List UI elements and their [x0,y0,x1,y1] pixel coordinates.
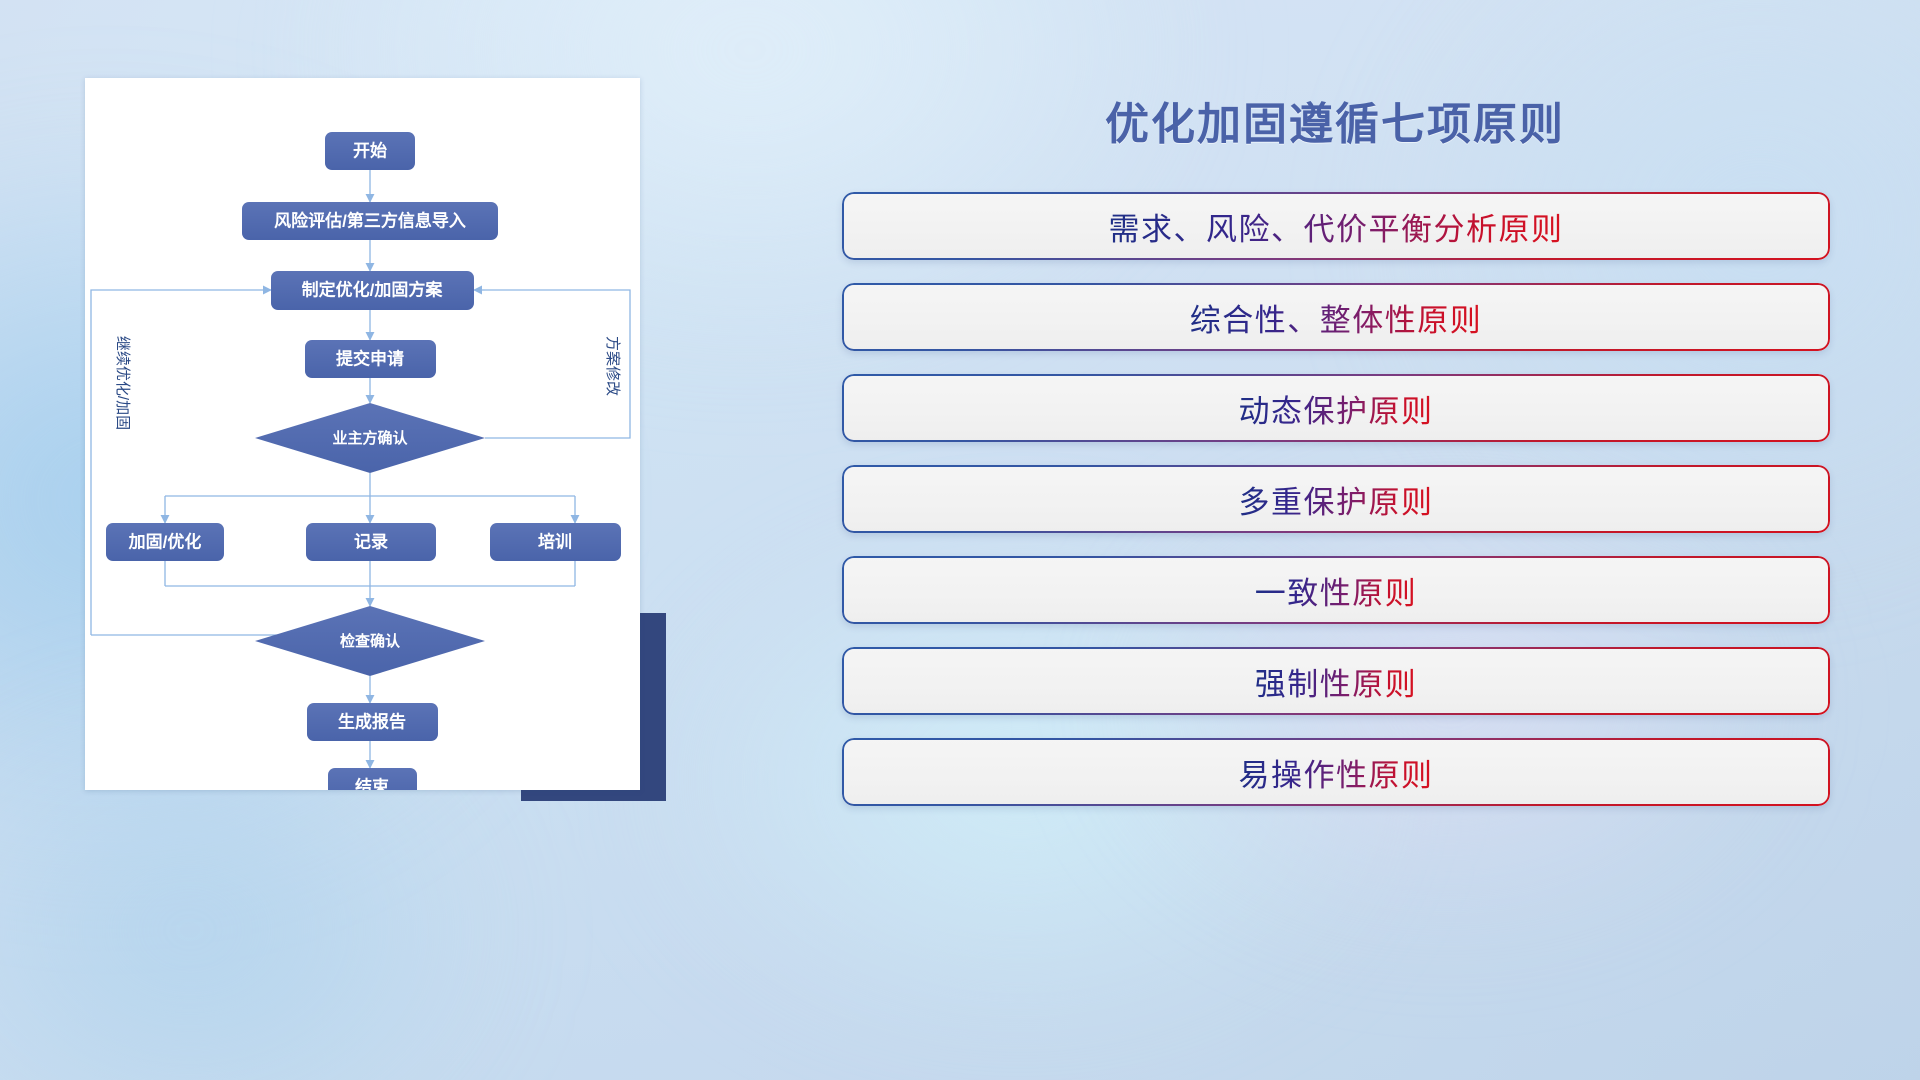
page-title: 优化加固遵循七项原则 [830,88,1840,152]
node-submit-label: 提交申请 [336,348,404,368]
principle-card-4[interactable]: 多重保护原则 [842,465,1830,533]
node-record-label: 记录 [354,532,388,551]
node-risk-assessment-label: 风险评估/第三方信息导入 [274,210,466,230]
node-check-confirm-label: 检查确认 [340,632,401,650]
flowchart-diagram: 开始 风险评估/第三方信息导入 制定优化/加固方案 提交申请 业主方确认 加固/… [85,78,640,790]
principle-card-5[interactable]: 一致性原则 [842,556,1830,624]
principles-list: 需求、风险、代价平衡分析原则 综合性、整体性原则 动态保护原则 多重保护原则 一… [830,192,1840,806]
principle-card-6[interactable]: 强制性原则 [842,647,1830,715]
node-report-label: 生成报告 [338,711,406,731]
principle-label: 动态保护原则 [1239,386,1434,431]
node-reinforce-label: 加固/优化 [128,531,202,551]
node-report[interactable]: 生成报告 [307,703,438,741]
node-record[interactable]: 记录 [306,523,436,561]
node-end-label: 结束 [355,776,389,790]
principle-card-7[interactable]: 易操作性原则 [842,738,1830,806]
node-start[interactable]: 开始 [325,132,415,170]
node-plan[interactable]: 制定优化/加固方案 [271,271,474,310]
principle-label: 强制性原则 [1255,659,1418,704]
node-end[interactable]: 结束 [328,768,417,790]
principles-panel: 优化加固遵循七项原则 需求、风险、代价平衡分析原则 综合性、整体性原则 动态保护… [830,60,1840,1020]
node-submit[interactable]: 提交申请 [305,340,436,378]
principle-label: 多重保护原则 [1239,477,1434,522]
edge-label-continue-optimize: 继续优化/加固 [114,336,131,430]
edge-label-plan-revision: 方案修改 [604,336,622,396]
principle-label: 一致性原则 [1255,568,1418,613]
principle-label: 需求、风险、代价平衡分析原则 [1109,204,1564,249]
node-check-confirm[interactable]: 检查确认 [255,606,485,676]
node-training[interactable]: 培训 [490,523,621,561]
node-training-label: 培训 [538,531,572,551]
node-risk-assessment[interactable]: 风险评估/第三方信息导入 [242,202,498,240]
principle-card-3[interactable]: 动态保护原则 [842,374,1830,442]
node-plan-label: 制定优化/加固方案 [302,279,444,299]
node-reinforce[interactable]: 加固/优化 [106,523,224,561]
node-start-label: 开始 [353,140,387,160]
principle-card-1[interactable]: 需求、风险、代价平衡分析原则 [842,192,1830,260]
node-owner-confirm[interactable]: 业主方确认 [255,403,485,473]
principle-label: 易操作性原则 [1239,750,1434,795]
principle-label: 综合性、整体性原则 [1190,295,1483,340]
node-owner-confirm-label: 业主方确认 [332,429,408,447]
principle-card-2[interactable]: 综合性、整体性原则 [842,283,1830,351]
